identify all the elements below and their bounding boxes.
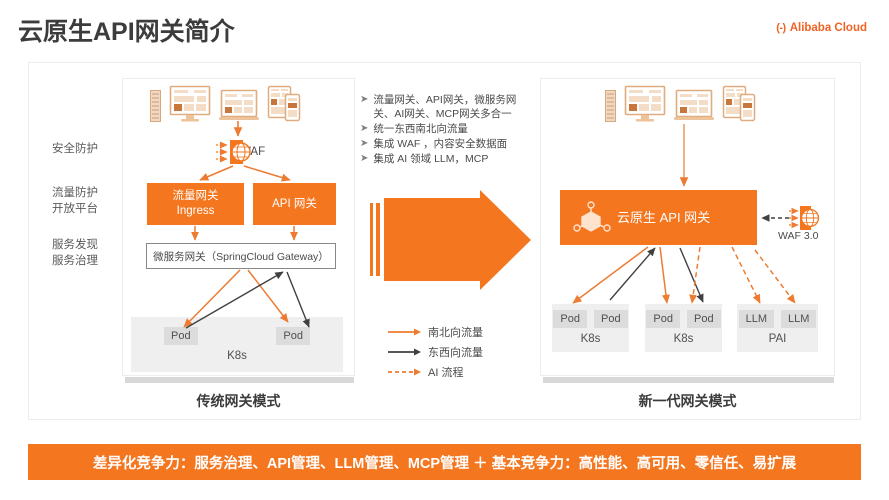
k8s-group-2: Pod Pod K8s	[645, 304, 722, 352]
pod-item: Pod	[276, 327, 310, 345]
list-item: ➤ 集成 WAF ，内容安全数据面	[360, 137, 535, 151]
legend-label: AI 流程	[428, 364, 463, 380]
dashed-arrow-icon	[388, 367, 422, 377]
list-item: ➤ 集成 AI 领域 LLM，MCP	[360, 152, 535, 166]
group-label: PAI	[769, 333, 787, 345]
alibaba-cloud-logo: (-) Alibaba Cloud	[776, 22, 867, 34]
server-icon	[150, 90, 161, 122]
laptop-icon	[674, 90, 714, 122]
api-gateway-box[interactable]: API 网关	[253, 183, 336, 225]
next-gen-panel-shadow	[543, 377, 834, 383]
server-icon	[605, 90, 616, 122]
pod-item: Pod	[687, 310, 721, 328]
desktop-icon	[625, 86, 665, 122]
bullet-arrow-icon: ➤	[360, 122, 368, 136]
banner-text: 差异化竞争力：服务治理、API管理、LLM管理、MCP管理 ＋ 基本竞争力：高性…	[93, 452, 796, 473]
alibaba-cloud-mark-icon: (-)	[776, 22, 786, 34]
page-header: 云原生API网关简介 (-) Alibaba Cloud	[0, 0, 889, 60]
alibaba-cloud-wordmark: Alibaba Cloud	[790, 22, 867, 34]
bullet-arrow-icon: ➤	[360, 93, 368, 121]
api-gateway-label: API 网关	[272, 197, 317, 212]
laptop-icon	[219, 90, 259, 122]
next-gen-panel-caption: 新一代网关模式	[540, 391, 835, 411]
pai-group: LLM LLM PAI	[737, 304, 818, 352]
microservice-gateway-box[interactable]: 微服务网关（SpringCloud Gateway）	[146, 243, 336, 269]
mobile-tablet-icon	[723, 86, 755, 122]
solid-arrow-icon	[388, 347, 422, 357]
bullet-arrow-icon: ➤	[360, 152, 368, 166]
legend-item-north-south: 南北向流量	[388, 322, 483, 342]
group-label: K8s	[674, 333, 694, 345]
legend-item-east-west: 东西向流量	[388, 342, 483, 362]
k8s-group-left: Pod Pod K8s	[131, 317, 343, 372]
ingress-gateway-line1: 流量网关	[173, 189, 219, 204]
cloud-native-api-gateway-box[interactable]: 云原生 API 网关	[560, 190, 757, 245]
client-devices-left	[150, 86, 300, 122]
group-label: K8s	[581, 333, 601, 345]
waf-label: WAF	[240, 146, 265, 158]
k8s-group-label: K8s	[227, 350, 247, 362]
desktop-icon	[170, 86, 210, 122]
legend-item-ai-flow: AI 流程	[388, 362, 483, 382]
list-item: ➤ 统一东西南北向流量	[360, 122, 535, 136]
bullet-text: 集成 AI 领域 LLM，MCP	[373, 152, 488, 166]
waf-3-label: WAF 3.0	[778, 230, 818, 242]
pod-item: Pod	[646, 310, 680, 328]
page-title: 云原生API网关简介	[18, 12, 235, 48]
axis-label-traffic: 流量防护 开放平台	[52, 185, 98, 217]
legend-label: 南北向流量	[428, 324, 483, 340]
solid-arrow-icon	[388, 327, 422, 337]
legacy-panel-caption: 传统网关模式	[122, 391, 355, 411]
ingress-gateway-box[interactable]: 流量网关 Ingress	[147, 183, 244, 225]
bullet-text: 集成 WAF ，内容安全数据面	[373, 137, 507, 151]
microservice-gateway-label: 微服务网关（SpringCloud Gateway）	[153, 249, 329, 264]
pod-item: Pod	[164, 327, 198, 345]
legend-label: 东西向流量	[428, 344, 483, 360]
pod-item: Pod	[553, 310, 587, 328]
llm-item: LLM	[781, 310, 816, 328]
bullet-text: 统一东西南北向流量	[373, 122, 468, 136]
feature-bullet-list: ➤ 流量网关、API网关，微服务网关、AI网关、MCP网关多合一 ➤ 统一东西南…	[360, 93, 535, 167]
pod-item: Pod	[594, 310, 628, 328]
ingress-gateway-line2: Ingress	[173, 204, 219, 219]
bullet-text: 流量网关、API网关，微服务网关、AI网关、MCP网关多合一	[373, 93, 535, 121]
axis-label-security: 安全防护	[52, 141, 98, 157]
bullet-arrow-icon: ➤	[360, 137, 368, 151]
list-item: ➤ 流量网关、API网关，微服务网关、AI网关、MCP网关多合一	[360, 93, 535, 121]
legacy-panel-shadow	[125, 377, 354, 383]
mobile-tablet-icon	[268, 86, 300, 122]
value-proposition-banner: 差异化竞争力：服务治理、API管理、LLM管理、MCP管理 ＋ 基本竞争力：高性…	[28, 444, 861, 480]
llm-item: LLM	[739, 310, 774, 328]
legend: 南北向流量 东西向流量 AI 流程	[388, 322, 483, 382]
k8s-group-1: Pod Pod K8s	[552, 304, 629, 352]
cloud-native-api-gateway-label: 云原生 API 网关	[617, 210, 710, 225]
axis-label-service: 服务发现 服务治理	[52, 237, 98, 269]
client-devices-right	[605, 86, 755, 122]
